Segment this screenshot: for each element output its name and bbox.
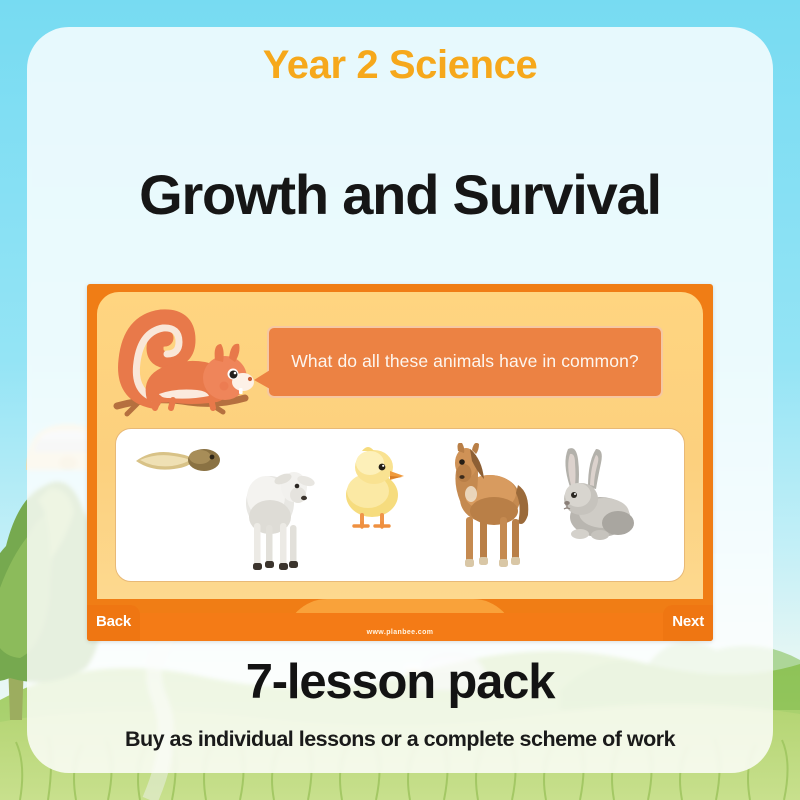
next-button[interactable]: Next xyxy=(663,605,713,641)
tadpole-image xyxy=(130,443,222,477)
subject-eyebrow: Year 2 Science xyxy=(0,44,800,86)
lesson-slide-preview[interactable]: What do all these animals have in common… xyxy=(87,284,713,641)
speech-bubble: What do all these animals have in common… xyxy=(267,326,663,398)
watermark: www.planbee.com xyxy=(87,629,713,636)
lesson-pack-subtext: Buy as individual lessons or a complete … xyxy=(0,728,800,752)
rabbit-image xyxy=(556,445,636,545)
lamb-image xyxy=(236,451,316,577)
back-button[interactable]: Back xyxy=(87,605,140,641)
chick-image xyxy=(338,445,410,529)
speech-bubble-tail xyxy=(254,370,270,389)
foal-image xyxy=(438,443,534,577)
lesson-pack-headline: 7-lesson pack xyxy=(0,657,800,708)
page-title: Growth and Survival xyxy=(0,166,800,225)
promo-graphic: Year 2 Science Growth and Survival xyxy=(0,0,800,800)
animal-image-strip xyxy=(115,428,685,582)
squirrel-mascot-icon xyxy=(113,306,258,418)
speech-bubble-text: What do all these animals have in common… xyxy=(277,350,652,374)
slide-bottom-bar xyxy=(87,613,713,641)
slide-panel: What do all these animals have in common… xyxy=(97,292,703,599)
